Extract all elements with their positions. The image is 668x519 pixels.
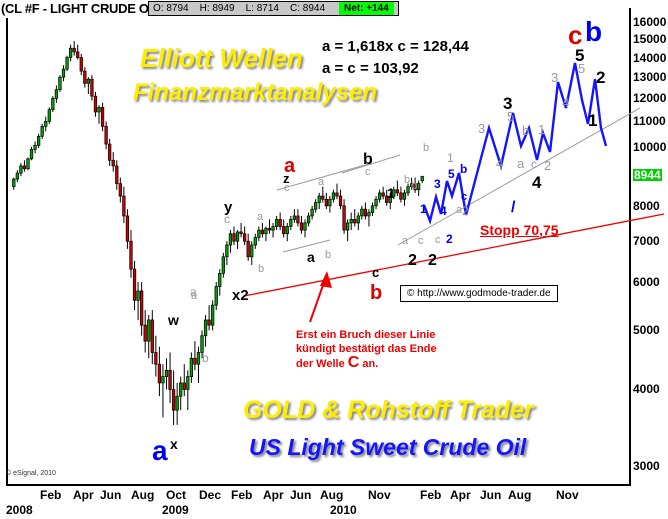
year-label-2010: 2010: [330, 503, 357, 517]
date-tick-14: Aug: [508, 488, 531, 502]
wave-label-b-56: b: [585, 18, 602, 46]
wave-label-c-13: c: [284, 183, 290, 194]
annotation-arrow: [310, 271, 332, 322]
price-tick-6000: 6000: [633, 276, 660, 288]
date-tick-7: Apr: [263, 488, 284, 502]
price-tick-10000: 10000: [633, 141, 666, 153]
wave-label-c-21: c: [372, 266, 379, 279]
wave-label-4-50: 4: [562, 96, 569, 109]
price-tick-15000: 15000: [633, 33, 666, 45]
price-tick-14000: 14000: [633, 52, 666, 64]
note-wave-c: C: [348, 354, 360, 371]
wave-label-1-19: 1: [387, 186, 395, 200]
wave-label-x-1: x: [170, 437, 178, 451]
price-tick-11000: 11000: [633, 115, 666, 127]
date-tick-9: Aug: [320, 488, 343, 502]
esignal-copyright: © eSignal, 2010: [6, 470, 56, 477]
date-tick-4: Oct: [166, 488, 186, 502]
branding-gold-rohstoff-trader: GOLD & Rohstoff Trader: [243, 396, 534, 425]
wave-label-c-45: c: [531, 158, 537, 170]
wave-label-x2-8: x2: [232, 288, 249, 303]
wave-label-b-10: b: [258, 264, 264, 275]
wave-label-b-4: b: [202, 352, 209, 364]
price-tick-16000: 16000: [633, 16, 666, 28]
branding-elliott-wellen: Elliott Wellen: [140, 43, 303, 74]
wave-label-b-20: b: [411, 181, 417, 192]
wave-label-1-54: 1: [588, 112, 597, 129]
wave-label-1-31: 1: [447, 152, 454, 164]
date-tick-2: Jun: [100, 488, 121, 502]
price-tick-13000: 13000: [633, 71, 666, 83]
date-tick-12: Apr: [450, 488, 471, 502]
price-tick-5000: 5000: [633, 324, 660, 336]
date-tick-11: Feb: [420, 488, 441, 502]
wave-label-2-35: 2: [462, 205, 469, 217]
wave-label-3-49: 3: [551, 71, 558, 84]
price-tick-8000: 8000: [633, 200, 660, 212]
wave-label-w-2: w: [168, 313, 179, 327]
note-line-1: Erst ein Bruch dieser Linie: [296, 328, 437, 342]
price-tick-12000: 12000: [633, 92, 666, 104]
wave-label-2-47: 2: [544, 159, 551, 172]
wave-label-2-25: 2: [408, 253, 417, 269]
wave-label-1-46: 1: [538, 123, 545, 136]
date-tick-6: Feb: [231, 488, 252, 502]
wave-label-2-37: 2: [446, 233, 453, 245]
wave-label-5-30: 5: [448, 168, 455, 180]
wave-label-4-40: 4: [496, 157, 503, 170]
wave-label-a-15: a: [307, 250, 315, 264]
wave-label-2-53: 2: [596, 69, 605, 86]
current-price-marker: 8944: [633, 169, 662, 181]
date-tick-10: Nov: [368, 488, 391, 502]
wave-label-slash-58: /: [511, 200, 515, 216]
date-tick-3: Aug: [131, 488, 154, 502]
year-label-2009: 2009: [162, 503, 189, 517]
wave-label-4-48: 4: [532, 174, 541, 191]
wave-label-4-29: 4: [440, 205, 447, 217]
wave-label-a-14: a: [318, 177, 324, 188]
wave-label-3-28: 3: [434, 178, 441, 190]
note-line-3: der Welle C an.: [296, 356, 437, 371]
branding-us-light-sweet-crude-oil: US Light Sweet Crude Oil: [249, 434, 526, 461]
wave-label-a-9: a: [257, 212, 263, 223]
price-tick-3000: 3000: [633, 460, 660, 472]
note-line-2: kündigt bestätigt das Ende: [296, 342, 437, 356]
wave-label-a-0: a: [152, 437, 168, 465]
wave-label-2-38: 2: [428, 253, 437, 269]
wave-label-c-34: c: [461, 192, 467, 203]
price-tick-7000: 7000: [633, 235, 660, 247]
wave-label-b-57: b: [423, 143, 429, 154]
date-tick-0: Feb: [40, 488, 61, 502]
wave-label-a-23: a: [402, 236, 408, 247]
date-tick-15: Nov: [556, 488, 579, 502]
wave-label-c-18: c: [365, 167, 371, 178]
wave-label-b-16: b: [325, 250, 331, 261]
branding-finanzmarktanalysen: Finanzmarktanalysen: [133, 79, 377, 107]
wave-label-b-26: b: [404, 175, 410, 186]
annotation-note: Erst ein Bruch dieser Linie kündigt best…: [296, 328, 437, 371]
formula-line-1: a = 1,618x c = 128,44: [322, 38, 469, 55]
wave-label-a-43: a: [517, 157, 524, 170]
wave-projection-path: [424, 63, 606, 221]
wave-label-1-27: 1: [420, 203, 427, 215]
formula-line-2: a = c = 103,92: [322, 60, 419, 77]
date-tick-1: Apr: [73, 488, 94, 502]
date-tick-8: Jun: [290, 488, 311, 502]
stop-loss-label: Stopp 70,75: [480, 222, 559, 238]
wave-label-b-32: b: [460, 163, 467, 175]
date-tick-13: Jun: [480, 488, 501, 502]
wave-label-c-7: c: [224, 213, 230, 225]
wave-label-b-22: b: [370, 283, 382, 303]
wave-label-3-39: 3: [478, 122, 485, 135]
wave-label-3-42: 3: [503, 95, 512, 112]
date-axis-labels: FebAprJunAugOctDecFebAprJunAugNovFebAprJ…: [0, 488, 668, 519]
price-tick-4000: 4000: [633, 383, 660, 395]
note-line-3-pre: der Welle: [296, 358, 348, 370]
wave-label-b-44: b: [522, 124, 529, 137]
site-watermark: © http://www.godmode-trader.de: [400, 285, 558, 302]
price-axis-labels: 1600015000140001300012000110001000080007…: [633, 0, 668, 519]
trendlines: [277, 108, 640, 252]
date-tick-5: Dec: [199, 488, 221, 502]
wave-label-c-36: c: [435, 235, 441, 246]
wave-label-c-24: c: [418, 236, 424, 247]
note-line-3-post: an.: [359, 358, 378, 370]
year-label-2008: 2008: [6, 503, 33, 517]
wave-label-c-55: c: [568, 22, 582, 48]
wave-label-a-5: a: [191, 291, 197, 302]
